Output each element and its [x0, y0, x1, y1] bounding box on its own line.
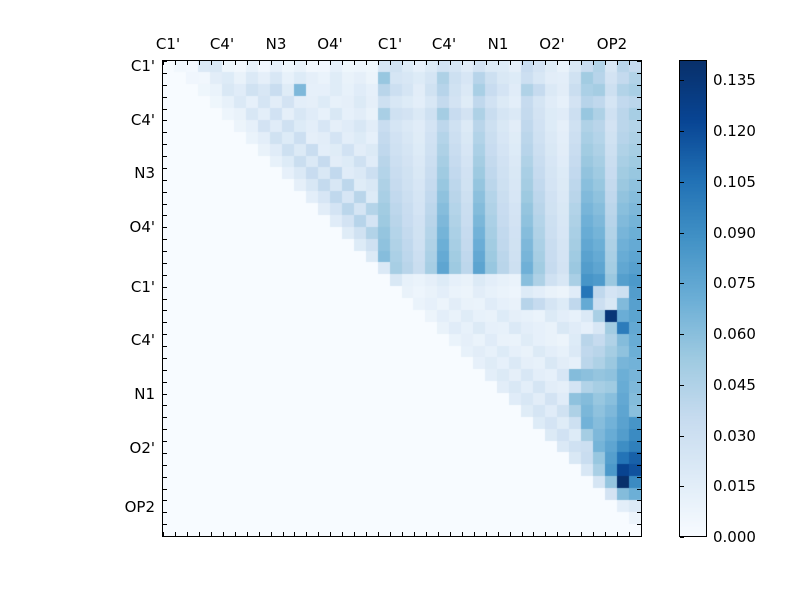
x-tick: [545, 532, 546, 536]
y-tick: [637, 524, 641, 525]
colorbar-tick-label: 0.015: [713, 477, 756, 495]
y-tick: [163, 334, 167, 335]
y-axis-tick-label: N3: [110, 164, 155, 182]
x-axis-tick-label: C1': [378, 35, 402, 53]
colorbar-tick-label: 0.060: [713, 325, 756, 343]
y-axis-tick-label: C1': [110, 57, 155, 75]
y-tick: [637, 465, 641, 466]
y-tick: [163, 441, 167, 442]
y-tick: [163, 120, 167, 121]
x-tick: [390, 532, 391, 536]
y-tick: [163, 382, 167, 383]
y-axis-tick-label: O2': [110, 439, 155, 457]
y-tick: [637, 299, 641, 300]
colorbar-tick: [680, 537, 684, 538]
x-tick: [498, 532, 499, 536]
y-tick: [637, 109, 641, 110]
y-tick: [163, 465, 167, 466]
y-tick: [163, 310, 167, 311]
y-tick: [163, 358, 167, 359]
x-tick: [617, 61, 618, 65]
y-tick: [163, 287, 167, 288]
x-tick: [187, 532, 188, 536]
x-tick: [641, 532, 642, 536]
y-tick: [637, 477, 641, 478]
y-tick: [163, 109, 167, 110]
y-tick: [163, 417, 167, 418]
y-tick: [163, 536, 167, 537]
x-tick: [426, 532, 427, 536]
x-tick: [522, 532, 523, 536]
colorbar-tick: [680, 385, 684, 386]
y-tick: [163, 73, 167, 74]
y-tick: [637, 334, 641, 335]
x-axis-tick-label: O2': [539, 35, 564, 53]
x-tick: [569, 532, 570, 536]
y-tick: [637, 512, 641, 513]
x-tick: [294, 532, 295, 536]
y-tick: [637, 192, 641, 193]
colorbar-gradient: [680, 61, 706, 536]
x-tick: [235, 61, 236, 65]
colorbar-tick-label: 0.030: [713, 427, 756, 445]
x-tick: [187, 61, 188, 65]
x-tick: [378, 61, 379, 65]
y-tick: [163, 453, 167, 454]
y-tick: [163, 477, 167, 478]
x-tick: [211, 61, 212, 65]
x-tick: [259, 61, 260, 65]
x-tick: [462, 61, 463, 65]
colorbar-tick-label: 0.075: [713, 274, 756, 292]
x-tick: [402, 532, 403, 536]
x-tick: [533, 61, 534, 65]
y-tick: [163, 394, 167, 395]
x-tick: [330, 532, 331, 536]
y-tick: [637, 358, 641, 359]
x-tick: [342, 61, 343, 65]
x-tick: [414, 532, 415, 536]
y-tick: [163, 524, 167, 525]
y-tick: [163, 192, 167, 193]
y-tick: [637, 346, 641, 347]
y-tick: [163, 322, 167, 323]
x-axis-tick-label: C1': [156, 35, 180, 53]
x-tick: [557, 61, 558, 65]
colorbar-tick-label: 0.105: [713, 173, 756, 191]
y-tick: [637, 204, 641, 205]
x-tick: [294, 61, 295, 65]
y-tick: [163, 132, 167, 133]
y-tick: [637, 215, 641, 216]
x-tick: [271, 532, 272, 536]
x-tick: [306, 61, 307, 65]
y-tick: [163, 97, 167, 98]
y-tick: [637, 85, 641, 86]
colorbar-tick-label: 0.090: [713, 224, 756, 242]
y-tick: [637, 132, 641, 133]
y-tick: [637, 263, 641, 264]
x-tick: [414, 61, 415, 65]
x-tick: [354, 532, 355, 536]
y-tick: [163, 263, 167, 264]
y-tick: [637, 73, 641, 74]
y-tick: [163, 346, 167, 347]
x-tick: [402, 61, 403, 65]
x-tick: [235, 532, 236, 536]
colorbar-tick: [680, 334, 684, 335]
x-tick: [486, 532, 487, 536]
y-tick: [163, 299, 167, 300]
x-tick: [629, 532, 630, 536]
x-axis-tick-label: N3: [266, 35, 287, 53]
x-tick: [306, 532, 307, 536]
y-tick: [163, 275, 167, 276]
x-axis-tick-label: O4': [317, 35, 342, 53]
colorbar-tick: [680, 283, 684, 284]
x-tick: [569, 61, 570, 65]
x-tick: [259, 532, 260, 536]
y-tick: [637, 287, 641, 288]
y-tick: [637, 429, 641, 430]
y-tick: [637, 251, 641, 252]
y-tick: [637, 310, 641, 311]
colorbar-tick: [680, 182, 684, 183]
y-tick: [163, 251, 167, 252]
x-tick: [533, 532, 534, 536]
x-tick: [486, 61, 487, 65]
y-tick: [163, 156, 167, 157]
x-axis-tick-label: C4': [432, 35, 456, 53]
x-tick: [605, 532, 606, 536]
x-tick: [641, 61, 642, 65]
x-tick: [581, 61, 582, 65]
x-tick: [366, 61, 367, 65]
x-tick: [271, 61, 272, 65]
x-tick: [474, 61, 475, 65]
colorbar-tick-label: 0.135: [713, 71, 756, 89]
colorbar-tick: [680, 233, 684, 234]
x-tick: [366, 532, 367, 536]
y-tick: [163, 227, 167, 228]
y-tick: [163, 429, 167, 430]
x-tick: [629, 61, 630, 65]
x-tick: [247, 532, 248, 536]
y-tick: [637, 370, 641, 371]
y-tick: [163, 215, 167, 216]
figure-canvas: C1'C4'N3O4'C1'C4'N1O2'OP2 C1'C4'N3O4'C1'…: [0, 0, 800, 600]
colorbar-tick-label: 0.000: [713, 528, 756, 546]
y-tick: [637, 180, 641, 181]
x-tick: [283, 61, 284, 65]
colorbar-tick-label: 0.120: [713, 122, 756, 140]
y-tick: [637, 536, 641, 537]
x-axis-tick-label: C4': [210, 35, 234, 53]
y-tick: [163, 61, 167, 62]
y-tick: [637, 500, 641, 501]
y-tick: [163, 489, 167, 490]
y-tick: [637, 453, 641, 454]
heatmap-axes[interactable]: [162, 60, 642, 537]
x-tick: [593, 532, 594, 536]
y-tick: [163, 405, 167, 406]
x-tick: [593, 61, 594, 65]
x-tick: [510, 61, 511, 65]
x-tick: [354, 61, 355, 65]
y-axis-tick-label: O4': [110, 218, 155, 236]
colorbar-tick: [680, 80, 684, 81]
y-tick: [637, 227, 641, 228]
y-tick: [637, 97, 641, 98]
x-tick: [223, 532, 224, 536]
y-tick: [163, 370, 167, 371]
x-tick: [474, 532, 475, 536]
x-tick: [605, 61, 606, 65]
y-tick: [637, 275, 641, 276]
x-tick: [462, 532, 463, 536]
y-axis-tick-label: OP2: [110, 498, 155, 516]
x-tick: [450, 61, 451, 65]
y-tick: [163, 85, 167, 86]
y-tick: [163, 204, 167, 205]
y-tick: [637, 489, 641, 490]
x-tick: [438, 532, 439, 536]
y-tick: [163, 144, 167, 145]
x-tick: [617, 532, 618, 536]
y-tick: [637, 405, 641, 406]
y-tick: [637, 156, 641, 157]
x-tick: [318, 532, 319, 536]
x-tick: [581, 532, 582, 536]
colorbar-tick: [680, 131, 684, 132]
x-tick: [223, 61, 224, 65]
y-axis-tick-label: N1: [110, 385, 155, 403]
x-axis-tick-label: OP2: [597, 35, 627, 53]
y-tick: [637, 417, 641, 418]
x-tick: [438, 61, 439, 65]
x-tick: [175, 532, 176, 536]
y-tick: [163, 512, 167, 513]
x-tick: [522, 61, 523, 65]
y-tick: [637, 394, 641, 395]
x-tick: [426, 61, 427, 65]
y-tick: [163, 500, 167, 501]
colorbar-tick-label: 0.045: [713, 376, 756, 394]
x-tick: [390, 61, 391, 65]
x-tick: [318, 61, 319, 65]
x-axis-tick-label: N1: [488, 35, 509, 53]
colorbar-tick: [680, 436, 684, 437]
x-tick: [545, 61, 546, 65]
y-tick: [637, 239, 641, 240]
y-tick: [637, 144, 641, 145]
x-tick: [378, 532, 379, 536]
x-tick: [510, 532, 511, 536]
heatmap-cells[interactable]: [163, 61, 641, 536]
y-tick: [637, 168, 641, 169]
y-axis-tick-label: C4': [110, 111, 155, 129]
y-axis-tick-label: C4': [110, 331, 155, 349]
x-tick: [247, 61, 248, 65]
y-tick: [163, 168, 167, 169]
y-tick: [637, 382, 641, 383]
x-tick: [199, 532, 200, 536]
y-tick: [163, 239, 167, 240]
x-tick: [283, 532, 284, 536]
x-tick: [175, 61, 176, 65]
x-tick: [342, 532, 343, 536]
y-tick: [637, 120, 641, 121]
colorbar-tick: [680, 486, 684, 487]
x-tick: [330, 61, 331, 65]
x-tick: [498, 61, 499, 65]
y-tick: [637, 322, 641, 323]
y-tick: [637, 61, 641, 62]
x-tick: [211, 532, 212, 536]
x-tick: [199, 61, 200, 65]
y-tick: [163, 180, 167, 181]
y-axis-tick-label: C1': [110, 278, 155, 296]
x-tick: [557, 532, 558, 536]
x-tick: [450, 532, 451, 536]
y-tick: [637, 441, 641, 442]
